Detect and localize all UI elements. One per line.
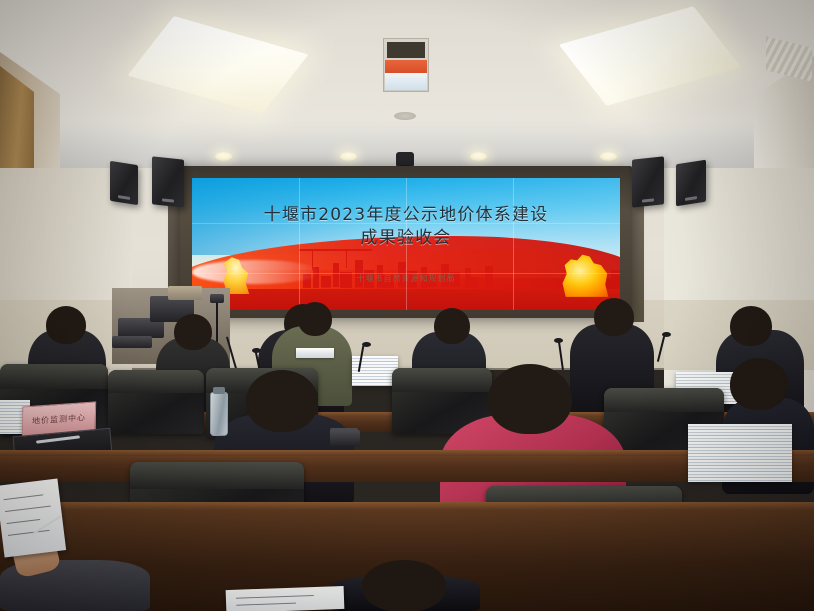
- downlight-icon: [600, 152, 617, 161]
- construction-crane-icon: [346, 249, 347, 267]
- tile-seam: [192, 223, 620, 224]
- wall-speaker: [632, 156, 664, 207]
- bottle-cap: [213, 387, 225, 394]
- tile-seam: [513, 178, 514, 310]
- meeting-room-photo: 十堰市2023年度公示地价体系建设 成果验收会 十堰市自然资源和规划局: [0, 0, 814, 611]
- wall-speaker: [110, 161, 138, 205]
- tile-seam: [299, 178, 300, 310]
- device-display: [387, 42, 425, 58]
- wall-speaker: [676, 160, 706, 207]
- document-stack: [688, 424, 792, 482]
- water-bottle[interactable]: [210, 392, 228, 436]
- device-red-label: [385, 60, 427, 73]
- led-video-wall[interactable]: 十堰市2023年度公示地价体系建设 成果验收会 十堰市自然资源和规划局: [192, 178, 620, 310]
- smoke-detector-icon: [394, 112, 416, 120]
- foreground-desk-edge: [0, 502, 814, 510]
- ceiling-device: [383, 38, 429, 92]
- downlight-icon: [215, 152, 232, 161]
- tile-seam: [406, 178, 407, 310]
- wall-speaker: [152, 156, 184, 207]
- microphone-head-icon: [252, 348, 261, 353]
- downlight-icon: [340, 152, 357, 161]
- tripod-head: [210, 294, 224, 303]
- ceiling-camera-icon: [396, 152, 414, 166]
- office-chair[interactable]: [108, 370, 204, 434]
- downlight-icon: [470, 152, 487, 161]
- microphone-head-icon: [662, 332, 671, 337]
- microphone-head-icon: [362, 342, 371, 347]
- tile-seam: [192, 273, 620, 274]
- desk-device[interactable]: [330, 430, 360, 446]
- av-box-carton: [168, 286, 202, 300]
- device-white-label: [385, 73, 427, 90]
- construction-crane-icon: [333, 249, 372, 250]
- desk-paper[interactable]: [226, 586, 345, 611]
- paper-sheet: [296, 348, 334, 358]
- microphone-head-icon: [554, 338, 563, 343]
- nameplate-text: 地价监测中心: [23, 411, 95, 427]
- av-mixer[interactable]: [112, 336, 152, 348]
